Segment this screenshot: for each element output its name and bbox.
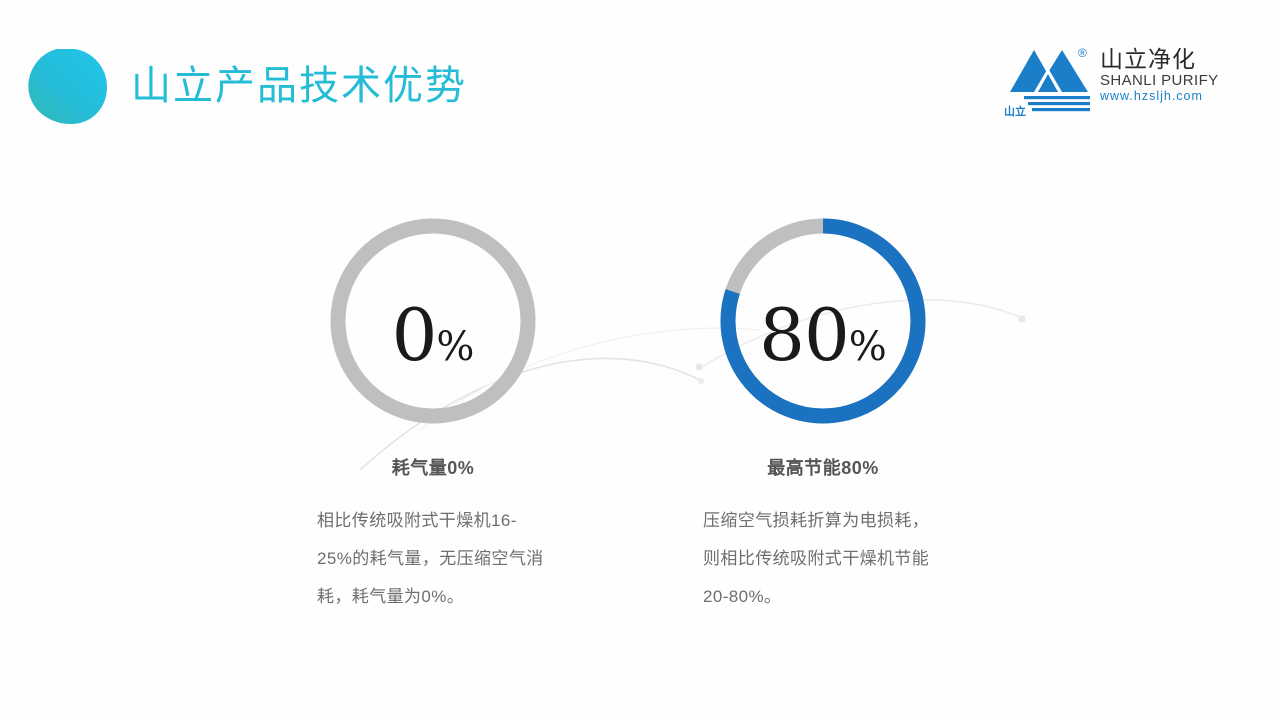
donut-chart-consumption: 0%	[283, 215, 583, 430]
logo-website-url: www.hzsljh.com	[1100, 89, 1222, 104]
donut-chart-savings: 80%	[673, 215, 973, 430]
stat-column-consumption: 0% 耗气量0% 相比传统吸附式干燥机16-25%的耗气量，无压缩空气消耗，耗气…	[283, 215, 583, 616]
blob-shape-icon	[27, 47, 109, 125]
registered-trademark-icon: ®	[1078, 46, 1087, 60]
donut-center-value-0: 0%	[283, 293, 583, 377]
logo-text-block: 山立净化 SHANLI PURIFY www.hzsljh.com	[1100, 46, 1222, 104]
donut-number-0: 0	[392, 293, 437, 377]
donut-percent-symbol-1: %	[849, 324, 887, 370]
donut-center-value-1: 80%	[673, 293, 973, 377]
page-title: 山立产品技术优势	[131, 58, 467, 114]
stat-heading-0: 耗气量0%	[283, 454, 583, 480]
slide-header: 山立产品技术优势 ® 山立 山立净化 SHANLI PURIFY www.hzs…	[0, 0, 1280, 150]
logo-mark-label: 山立	[1004, 103, 1026, 119]
stat-body-1: 压缩空气损耗折算为电损耗，则相比传统吸附式干燥机节能20-80%。	[703, 502, 935, 616]
logo-company-name-cn: 山立净化	[1100, 46, 1222, 72]
stat-heading-1: 最高节能80%	[673, 454, 973, 480]
stat-body-0: 相比传统吸附式干燥机16-25%的耗气量，无压缩空气消耗，耗气量为0%。	[317, 502, 549, 616]
slide-canvas: 山立产品技术优势 ® 山立 山立净化 SHANLI PURIFY www.hzs…	[0, 0, 1280, 720]
company-logo: ® 山立 山立净化 SHANLI PURIFY www.hzsljh.com	[1004, 44, 1220, 120]
donut-percent-symbol-0: %	[436, 324, 474, 370]
donut-number-1: 80	[759, 293, 849, 377]
logo-company-name-en: SHANLI PURIFY	[1100, 72, 1222, 89]
stat-column-savings: 80% 最高节能80% 压缩空气损耗折算为电损耗，则相比传统吸附式干燥机节能20…	[673, 215, 973, 616]
